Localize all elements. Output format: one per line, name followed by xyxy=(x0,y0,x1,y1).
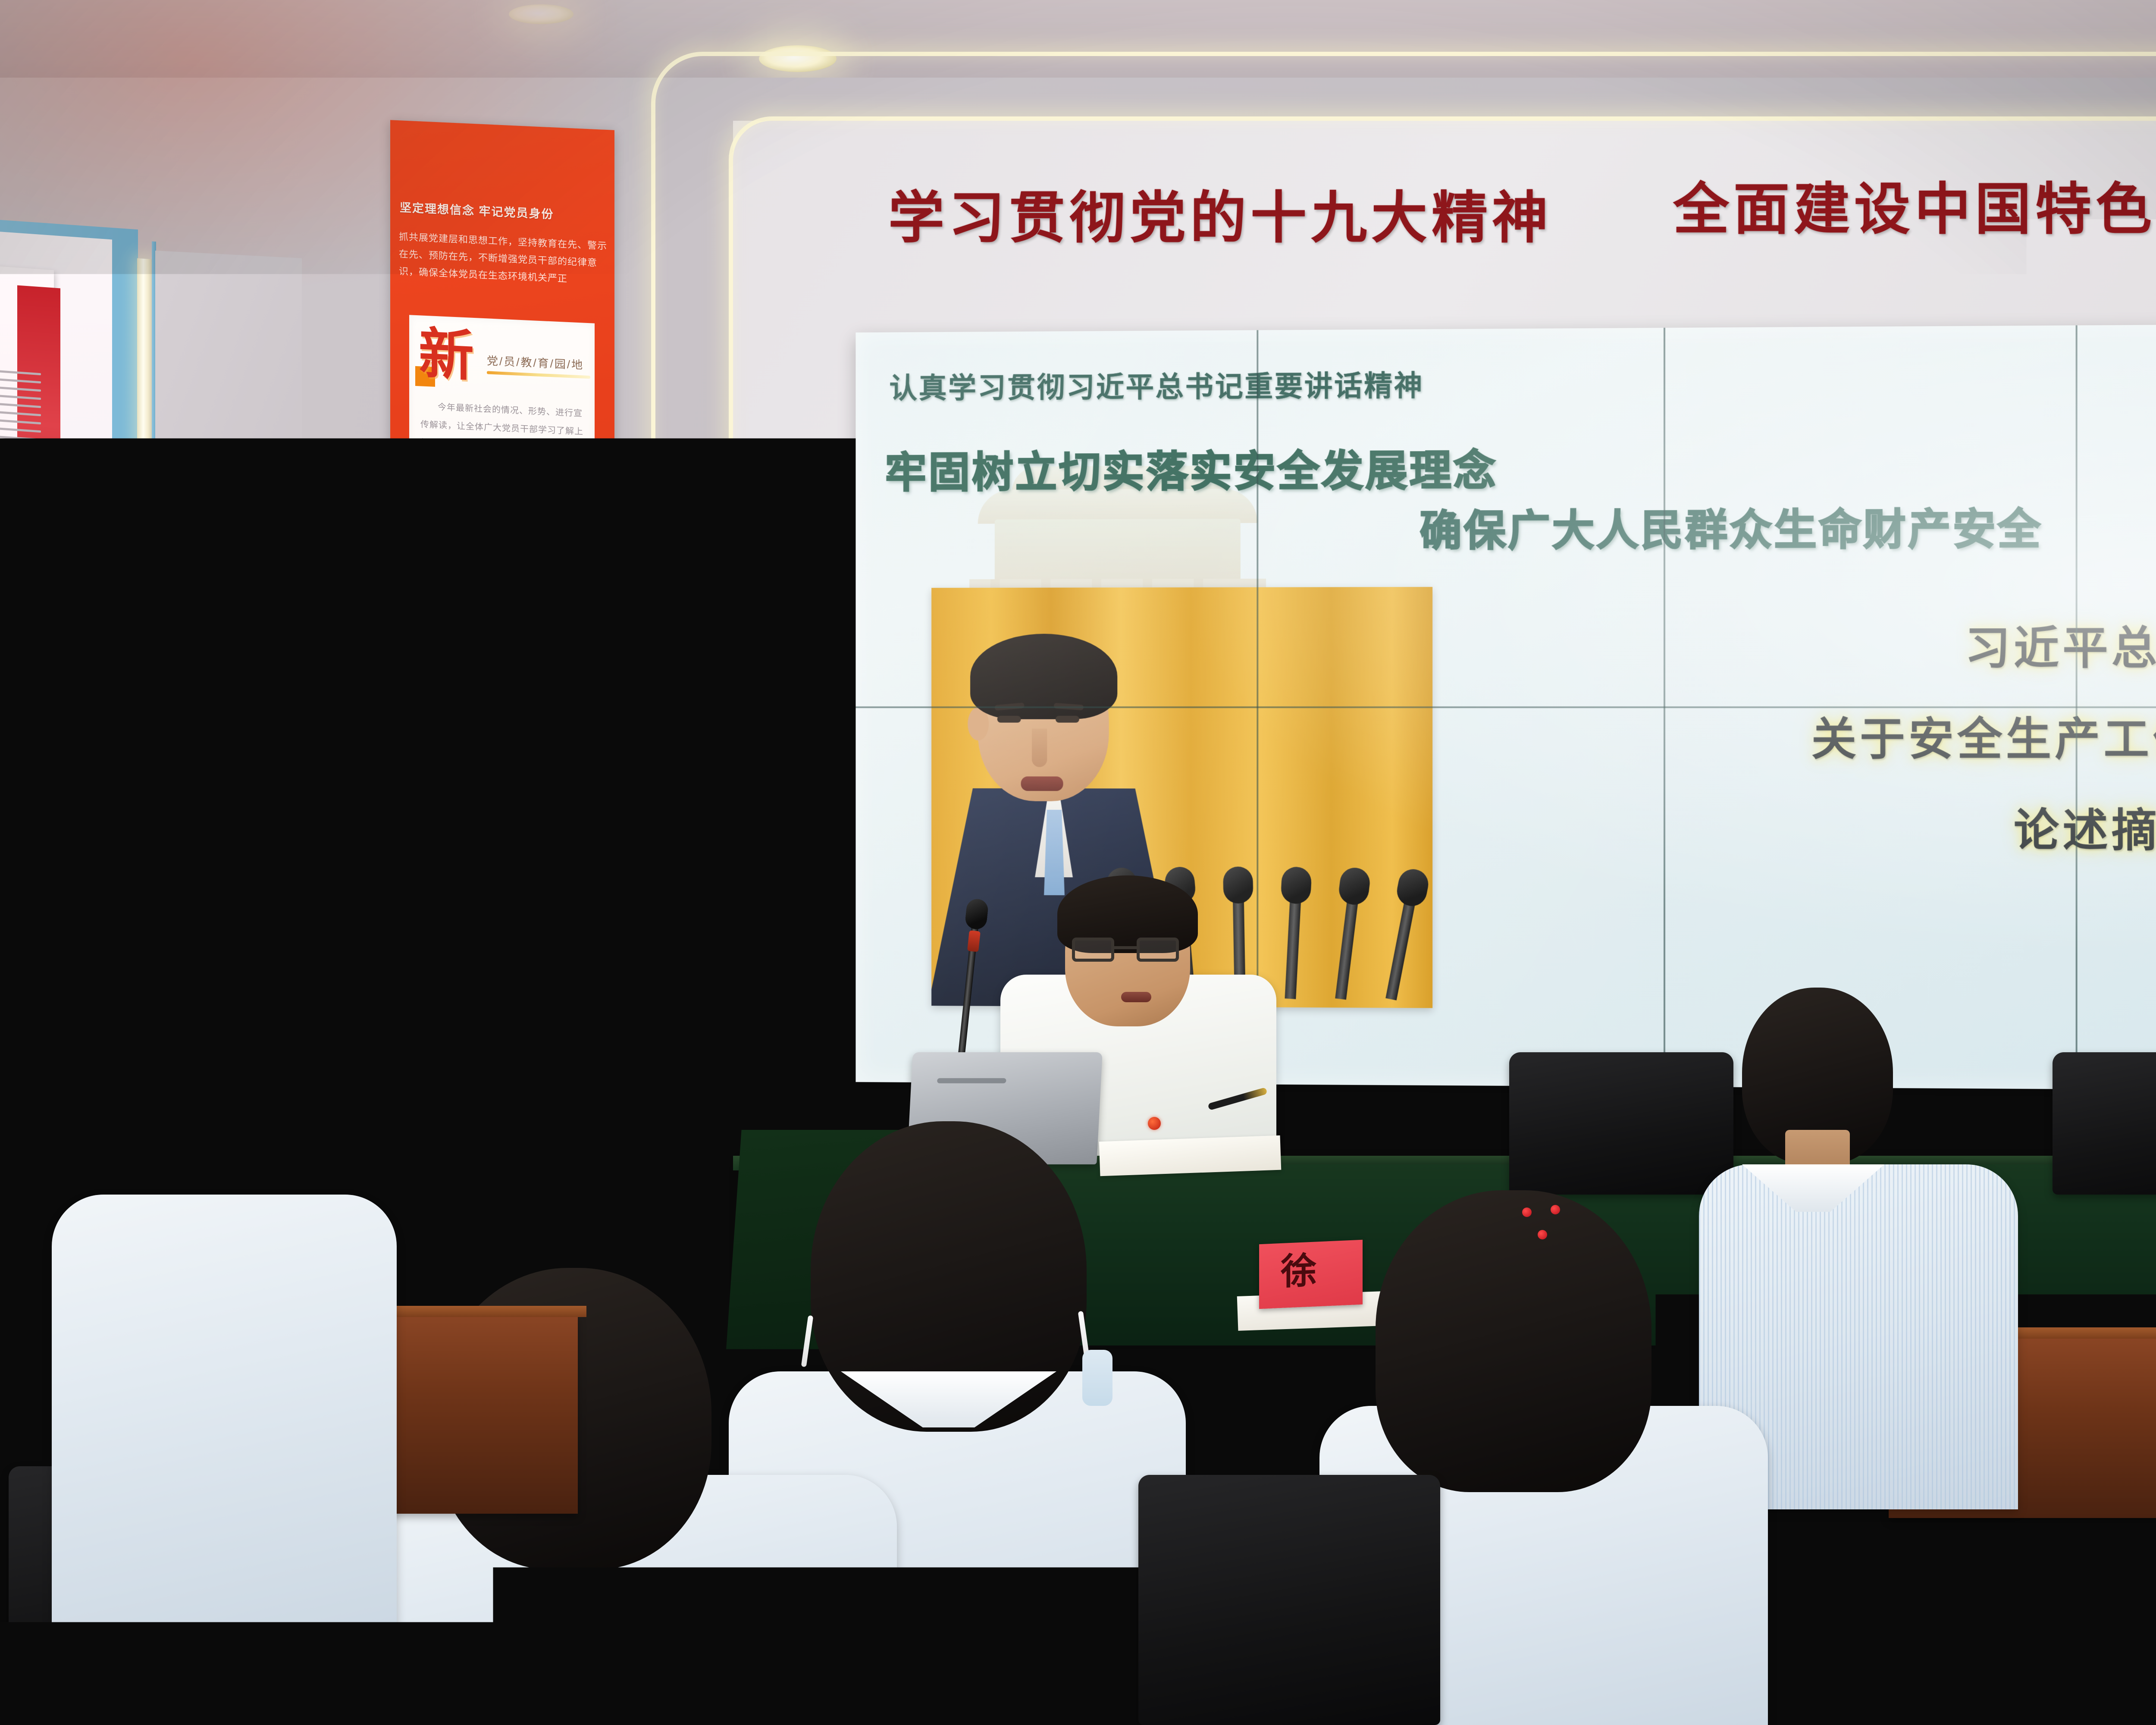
speaker-mouth xyxy=(1121,992,1151,1002)
attendee-woman-head xyxy=(1376,1190,1651,1492)
tiananmen-gate-icon xyxy=(435,687,573,793)
speaker-glasses-icon xyxy=(1072,949,1185,952)
screen-right-line-3: 论述摘编 xyxy=(1811,785,2156,877)
wall-headline-right: 全面建设中国特色社会主义 xyxy=(1673,164,2156,245)
bag-zipper-icon xyxy=(300,966,321,977)
screen-title-line1: 牢固树立切实落实安全发展理念 xyxy=(885,436,1498,499)
party-emblem-pin-icon xyxy=(1148,1117,1161,1130)
speaker-documents xyxy=(1099,1135,1282,1176)
poster-ring-graphic xyxy=(448,515,552,610)
screen-title-line2: 确保广大人民群众生命财产安全 xyxy=(1420,495,2042,558)
left-lightbox-title: 旗帜 xyxy=(0,984,95,1046)
left-lightbox-textlines xyxy=(0,369,41,558)
poster-divider xyxy=(487,371,590,379)
laptop-vent xyxy=(937,1078,1006,1083)
poster-body-text: 抓共展党建层和思想工作，坚持教育在先、警示在先、预防在先，不断增强党员干部的纪律… xyxy=(399,228,608,289)
left-lightbox-photo xyxy=(0,657,54,736)
name-placard: 徐 xyxy=(1259,1240,1363,1309)
chair-center[interactable] xyxy=(1138,1475,1440,1725)
conference-room-scene: 旗帜 坚定理想信念 牢记党员身份 抓共展党建层和思想工作，坚持教育在先、警示在先… xyxy=(0,0,2156,1725)
chair-right-far[interactable] xyxy=(1509,1052,1733,1195)
poster-badge-character: 新 xyxy=(419,326,474,384)
hairpin-icon-2 xyxy=(1551,1205,1560,1214)
hairpin-icon-3 xyxy=(1538,1230,1547,1239)
panel-bezel-h1 xyxy=(856,706,2156,708)
attendee-left-neck xyxy=(155,1164,229,1216)
party-building-poster: 坚定理想信念 牢记党员身份 抓共展党建层和思想工作，坚持教育在先、警示在先、预防… xyxy=(390,120,614,963)
cabinet-handle-left[interactable] xyxy=(431,1190,439,1245)
poster-badge-subtitle: 党/员/教/育/园/地 xyxy=(487,352,584,372)
chair-right-edge[interactable] xyxy=(2053,1052,2156,1195)
wall-panel xyxy=(155,251,302,935)
wall-light-strip xyxy=(137,258,153,906)
poster-article-text: 今年最新社会的情况、形势、进行宣传解读，让全体广大党员干部学习了解上级精神，所有… xyxy=(420,397,585,477)
screen-right-line-1: 习近平总书记 xyxy=(1811,602,2156,694)
poster-header-text: 坚定理想信念 牢记党员身份 xyxy=(400,198,610,224)
poster-content-card: 新 党/员/教/育/园/地 今年最新社会的情况、形势、进行宣传解读，让全体广大党… xyxy=(409,315,595,819)
cabinet-handle-right[interactable] xyxy=(458,1190,466,1245)
hairpin-icon-1 xyxy=(1522,1207,1532,1217)
screen-right-text-block: 习近平总书记 关于安全生产工作 论述摘编 xyxy=(1811,602,2156,877)
wall-headline-left: 学习贯彻党的十九大精神 xyxy=(888,172,1552,254)
face-mask-icon xyxy=(1082,1350,1112,1406)
laptop-bag xyxy=(294,919,465,1069)
screen-subtitle: 认真学习贯彻习近平总书记重要讲话精神 xyxy=(889,363,1424,406)
attendee-left-torso xyxy=(52,1195,397,1626)
cabinet-door-split xyxy=(448,1081,451,1316)
name-placard-text: 徐 xyxy=(1281,1253,1317,1291)
